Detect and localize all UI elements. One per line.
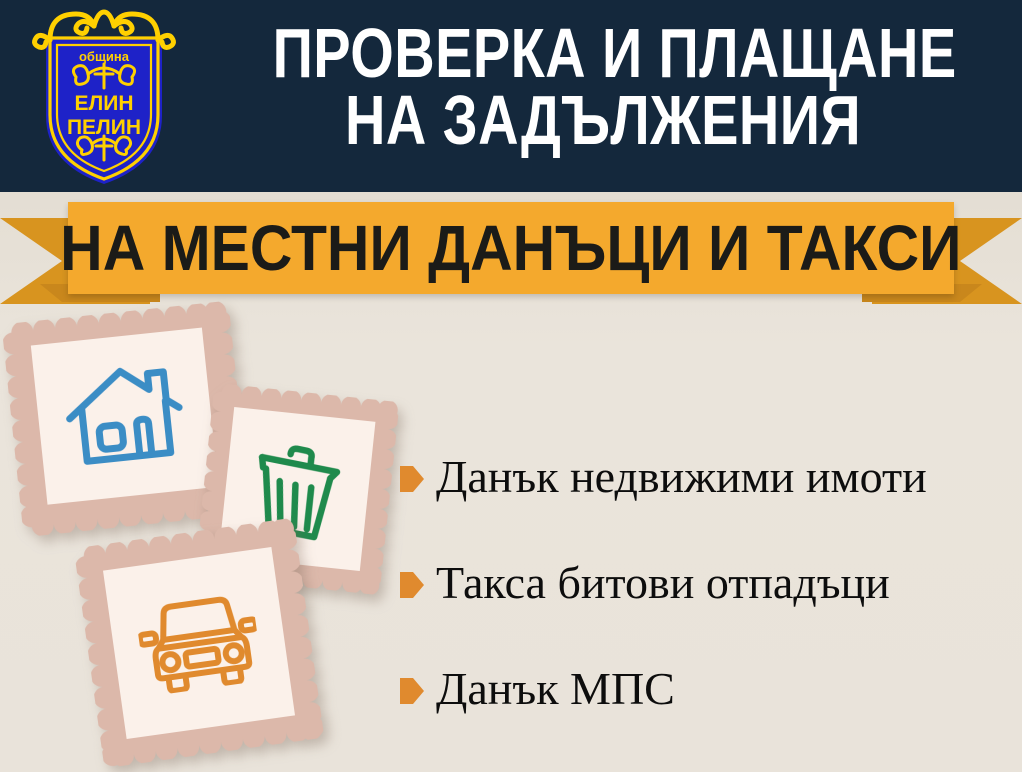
stamp-card-vehicle [74,518,325,769]
bullet-arrow-icon [400,466,424,492]
poster-header: община ЕЛИН ПЕЛИН ПРОВЕРКА И ПЛА [0,0,1022,192]
ribbon-label: НА МЕСТНИ ДАНЪЦИ И ТАКСИ [60,216,961,280]
ribbon-band: НА МЕСТНИ ДАНЪЦИ И ТАКСИ [68,202,954,294]
page-title-line1: ПРОВЕРКА И ПЛАЩАНЕ [273,20,934,87]
list-item-label: Такса битови отпадъци [436,558,890,608]
page-title-line2: НА ЗАДЪЛЖЕНИЯ [273,87,934,154]
car-front-icon [134,589,264,697]
list-item[interactable]: Данък МПС [400,636,1020,742]
elin-pelin-coat-of-arms-icon: община ЕЛИН ПЕЛИН [24,4,184,190]
list-item-label: Данък МПС [436,664,675,714]
list-item[interactable]: Данък недвижими имоти [400,424,1020,530]
house-icon [61,358,189,474]
crest-label-top: община [79,49,130,64]
list-item-label: Данък недвижими имоти [436,452,927,502]
page-title: ПРОВЕРКА И ПЛАЩАНЕ НА ЗАДЪЛЖЕНИЯ [190,20,1016,154]
stamp-paper [103,547,295,739]
stamp-paper [31,328,219,505]
subtitle-ribbon: НА МЕСТНИ ДАНЪЦИ И ТАКСИ [0,196,1022,308]
tax-types-list: Данък недвижими имоти Такса битови отпад… [400,424,1020,742]
crest-label-line1: ЕЛИН [74,92,133,115]
bullet-arrow-icon [400,572,424,598]
bullet-arrow-icon [400,678,424,704]
poster-canvas: Данък недвижими имоти Такса битови отпад… [0,0,1022,772]
list-item[interactable]: Такса битови отпадъци [400,530,1020,636]
